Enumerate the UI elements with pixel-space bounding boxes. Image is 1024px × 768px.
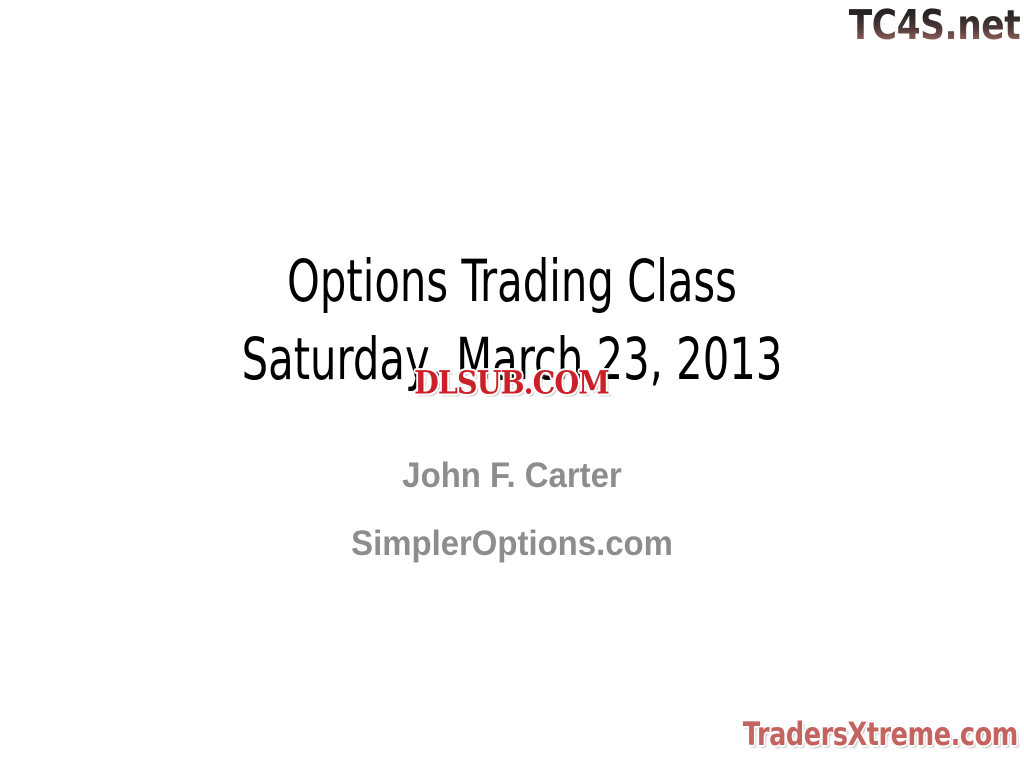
title-line-1: Options Trading Class <box>102 243 921 321</box>
tc4s-logo-text: TC4S.net <box>848 5 1020 46</box>
slide-title: Options Trading Class Saturday, March 23… <box>0 243 1024 398</box>
presentation-slide: TC4S.net Options Trading Class Saturday,… <box>0 0 1024 768</box>
presenter-name: John F. Carter <box>31 442 994 510</box>
tradersxtreme-logo: TradersXtreme.com <box>674 714 1018 754</box>
tradersxtreme-logo-text: TradersXtreme.com <box>743 718 1018 750</box>
title-line-2: Saturday, March 23, 2013 <box>102 321 921 399</box>
tc4s-logo: TC4S.net <box>816 0 1020 50</box>
presenter-website: SimplerOptions.com <box>31 510 994 578</box>
slide-subtitle: John F. Carter SimplerOptions.com <box>0 442 1024 577</box>
